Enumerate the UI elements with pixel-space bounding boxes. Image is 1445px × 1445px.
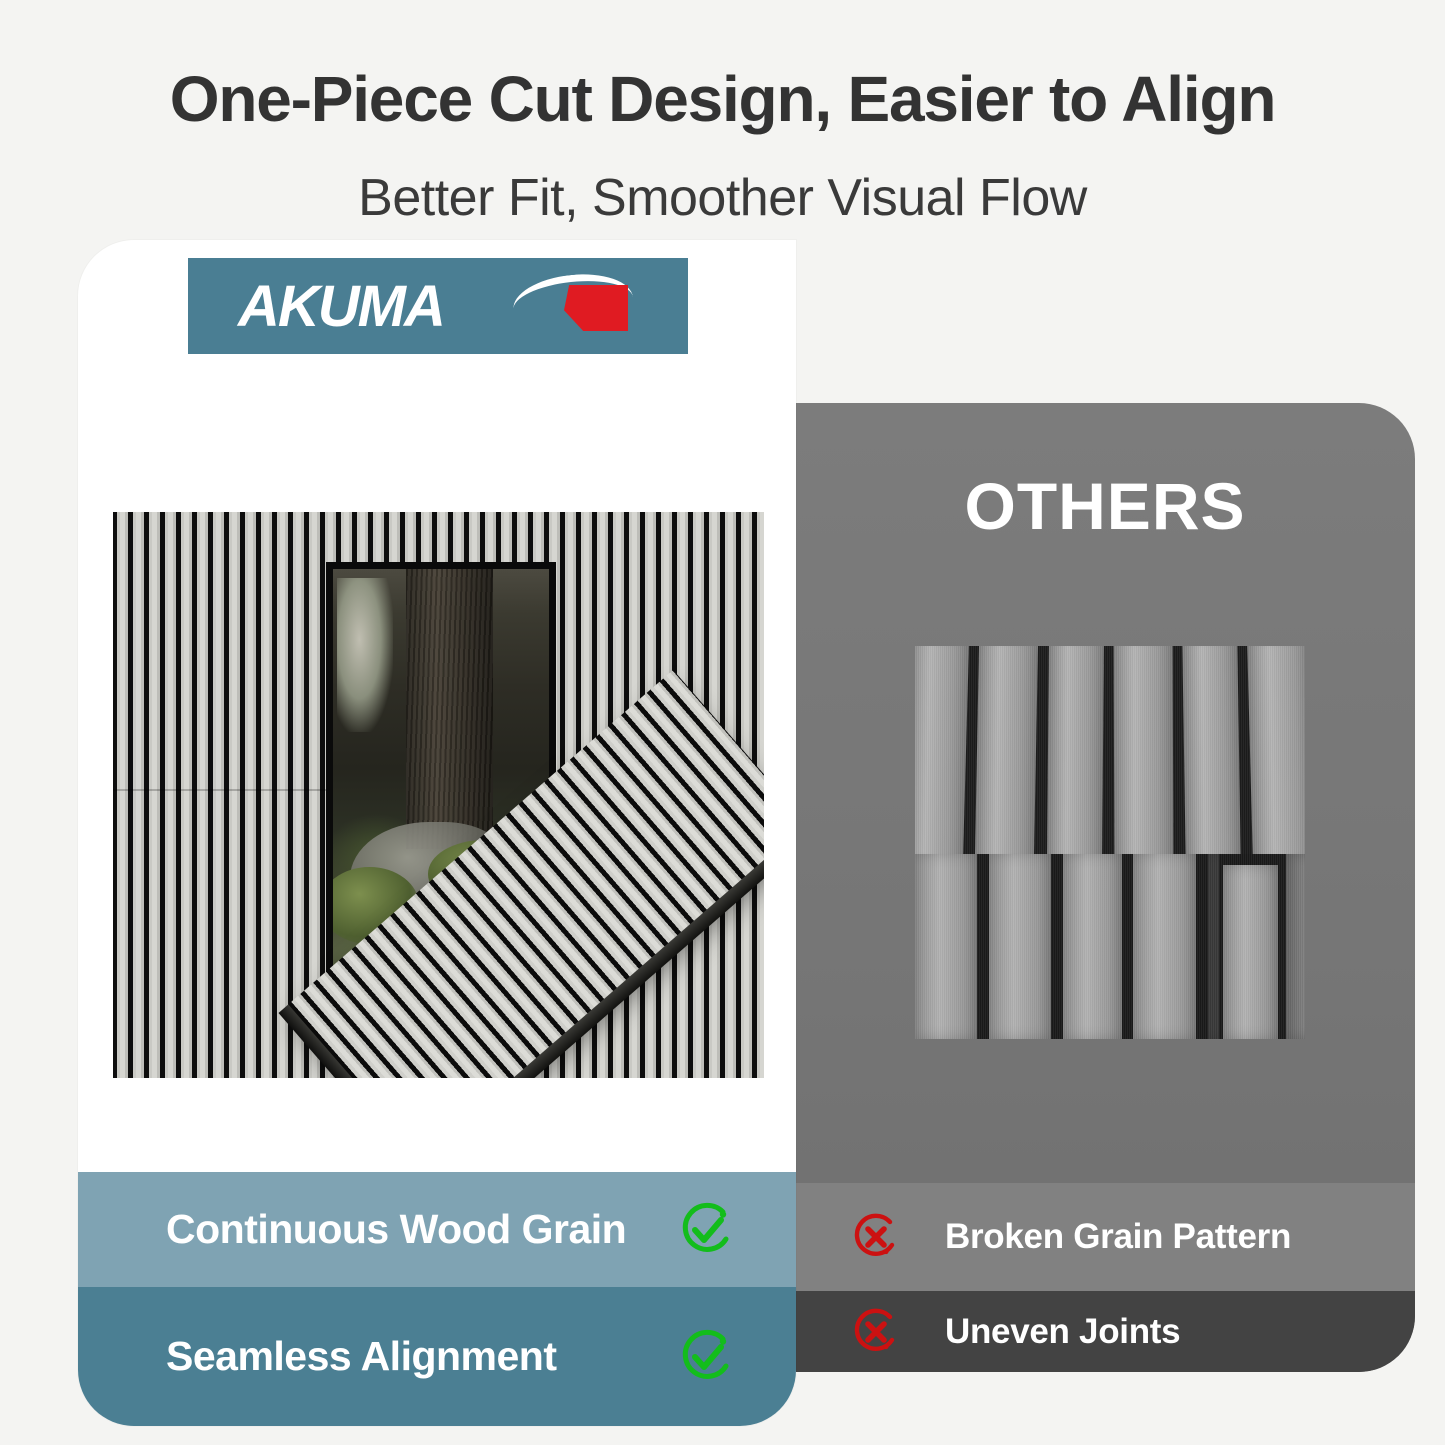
drawback-row-uneven-joints: Uneven Joints <box>795 1291 1415 1372</box>
akumax-comparison-card: AKUMA <box>78 240 796 1426</box>
drawback-label: Uneven Joints <box>945 1312 1180 1352</box>
others-product-image <box>915 646 1305 1039</box>
others-comparison-card: OTHERS <box>795 403 1415 1372</box>
feature-row-continuous-wood-grain: Continuous Wood Grain <box>78 1172 796 1287</box>
infographic-page: One-Piece Cut Design, Easier to Align Be… <box>0 0 1445 1445</box>
akumax-product-image <box>113 512 764 1078</box>
feature-label: Continuous Wood Grain <box>166 1206 626 1253</box>
others-lower-slats <box>915 854 1305 1039</box>
page-subheadline: Better Fit, Smoother Visual Flow <box>0 168 1445 228</box>
red-x-circle-icon <box>849 1305 903 1359</box>
akumax-logo-banner: AKUMA <box>188 258 688 354</box>
others-card-title: OTHERS <box>795 468 1415 544</box>
tree-trunk <box>406 569 492 849</box>
green-check-circle-icon <box>676 1326 738 1388</box>
page-headline: One-Piece Cut Design, Easier to Align <box>0 62 1445 136</box>
brand-name-text: AKUMA <box>238 273 444 340</box>
red-x-circle-icon <box>849 1210 903 1264</box>
drawback-row-broken-grain: Broken Grain Pattern <box>795 1183 1415 1291</box>
green-check-circle-icon <box>676 1199 738 1261</box>
feature-label: Seamless Alignment <box>166 1333 557 1380</box>
others-upper-slats <box>915 646 1305 854</box>
sky-patch <box>337 578 393 732</box>
akumax-red-x-flag-icon <box>564 285 628 331</box>
drawback-label: Broken Grain Pattern <box>945 1217 1291 1257</box>
feature-row-seamless-alignment: Seamless Alignment <box>78 1287 796 1426</box>
